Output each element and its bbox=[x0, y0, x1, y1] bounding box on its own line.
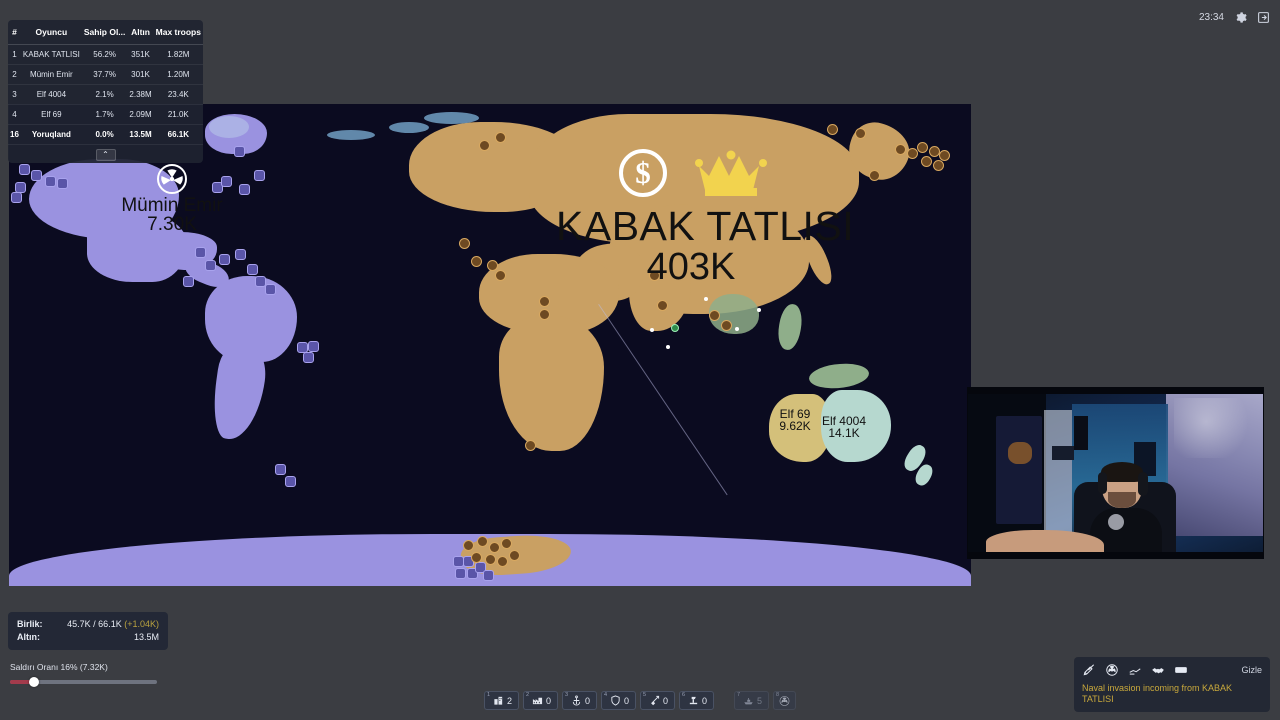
shield-icon bbox=[610, 695, 621, 706]
warship-icon bbox=[743, 695, 754, 706]
attack-ratio-slider-knob[interactable] bbox=[29, 677, 39, 687]
cell-rank: 1 bbox=[8, 45, 21, 65]
toolbar-hotkey: 7 bbox=[737, 692, 740, 698]
naval-unit-dot[interactable] bbox=[704, 297, 708, 301]
cell-owned: 0.0% bbox=[82, 125, 128, 145]
cell-troops: 66.1K bbox=[154, 125, 203, 145]
unit-marker[interactable] bbox=[471, 552, 482, 563]
unit-marker[interactable] bbox=[497, 556, 508, 567]
city-icon bbox=[493, 695, 504, 706]
unit-marker[interactable] bbox=[495, 132, 506, 143]
missile-icon bbox=[649, 695, 660, 706]
map-viewport[interactable]: KABAK TATLISI403K$Mümin Emir7.30KElf 699… bbox=[9, 104, 971, 586]
toolbar-hotkey: 1 bbox=[487, 692, 490, 698]
toolbar-hotkey: 6 bbox=[682, 692, 685, 698]
unit-marker[interactable] bbox=[235, 249, 246, 260]
cell-player: Elf 69 bbox=[21, 105, 82, 125]
unit-marker[interactable] bbox=[471, 256, 482, 267]
sword-icon[interactable] bbox=[1082, 663, 1096, 677]
unit-marker[interactable] bbox=[205, 260, 216, 271]
handshake-icon[interactable] bbox=[1151, 663, 1165, 677]
unit-marker[interactable] bbox=[477, 536, 488, 547]
game-screen: KABAK TATLISI403K$Mümin Emir7.30KElf 699… bbox=[0, 0, 1280, 720]
territory-greenland-ice bbox=[209, 116, 249, 138]
cell-gold: 301K bbox=[127, 65, 153, 85]
top-right-controls: 23:34 bbox=[1199, 11, 1270, 24]
unit-marker[interactable] bbox=[31, 170, 42, 181]
unit-marker[interactable] bbox=[183, 276, 194, 287]
cell-rank: 16 bbox=[8, 125, 21, 145]
webcam-tapestry-detail bbox=[1174, 398, 1254, 458]
gold-coin-icon: $ bbox=[619, 149, 667, 197]
lake-icon bbox=[327, 130, 375, 140]
naval-unit-dot[interactable] bbox=[757, 308, 761, 312]
unit-marker[interactable] bbox=[219, 254, 230, 265]
chat-icon[interactable] bbox=[1174, 663, 1188, 677]
webcam-overlay[interactable] bbox=[967, 387, 1264, 559]
webcam-wall-plate bbox=[1052, 446, 1074, 460]
cell-troops: 1.82M bbox=[154, 45, 203, 65]
cell-troops: 23.4K bbox=[154, 85, 203, 105]
unit-marker[interactable] bbox=[489, 542, 500, 553]
anchor-icon bbox=[571, 695, 582, 706]
cell-troops: 1.20M bbox=[154, 65, 203, 85]
unit-marker[interactable] bbox=[921, 156, 932, 167]
events-hide-button[interactable]: Gizle bbox=[1241, 665, 1262, 675]
unit-marker[interactable] bbox=[917, 142, 928, 153]
cell-gold: 13.5M bbox=[127, 125, 153, 145]
game-clock: 23:34 bbox=[1199, 12, 1224, 23]
toolbar-count: 0 bbox=[624, 696, 629, 706]
toolbar-count: 0 bbox=[546, 696, 551, 706]
toolbar-count: 0 bbox=[702, 696, 707, 706]
naval-unit-dot[interactable] bbox=[650, 328, 654, 332]
territory-australia-east bbox=[821, 390, 891, 462]
troops-label: Birlik: bbox=[17, 619, 43, 629]
unit-marker[interactable] bbox=[495, 270, 506, 281]
toolbar-hotkey: 3 bbox=[565, 692, 568, 698]
toolbar-button-missile[interactable]: 50 bbox=[640, 691, 675, 710]
cell-player: KABAK TATLISI bbox=[21, 45, 82, 65]
naval-unit-dot[interactable] bbox=[666, 345, 670, 349]
table-row[interactable]: 3Elf 40042.1%2.38M23.4K bbox=[8, 85, 203, 105]
gold-label: Altın: bbox=[17, 632, 40, 642]
cell-player: Yoruqland bbox=[21, 125, 82, 145]
column-header-rank: # bbox=[8, 20, 21, 45]
event-filter-row: Gizle bbox=[1082, 663, 1262, 677]
webcam-headphone-left bbox=[1098, 472, 1107, 494]
cell-rank: 3 bbox=[8, 85, 21, 105]
unit-marker[interactable] bbox=[933, 160, 944, 171]
webcam-poster-left bbox=[996, 416, 1042, 524]
unit-marker[interactable] bbox=[239, 184, 250, 195]
troops-value: 45.7K / 66.1K bbox=[67, 619, 122, 629]
silo-icon bbox=[688, 695, 699, 706]
webcam-necklace bbox=[1108, 514, 1124, 530]
stats-box: Birlik: 45.7K / 66.1K (+1.04K) Altın: 13… bbox=[8, 612, 168, 650]
toolbar-hotkey: 2 bbox=[526, 692, 529, 698]
webcam-bottom-edge bbox=[968, 552, 1264, 559]
toolbar-count: 0 bbox=[585, 696, 590, 706]
toolbar-count: 0 bbox=[663, 696, 668, 706]
unit-marker[interactable] bbox=[455, 568, 466, 579]
attack-ratio-control[interactable]: Saldırı Oranı 16% (7.32K) bbox=[8, 662, 168, 684]
lake-icon bbox=[389, 122, 429, 133]
nuke-icon[interactable] bbox=[1105, 663, 1119, 677]
gold-row: Altın: 13.5M bbox=[17, 632, 159, 642]
webcam-top-edge bbox=[968, 388, 1264, 394]
crown-icon bbox=[695, 148, 767, 200]
unit-marker[interactable] bbox=[895, 144, 906, 155]
unit-marker[interactable] bbox=[308, 341, 319, 352]
unit-marker[interactable] bbox=[827, 124, 838, 135]
events-panel: Gizle Naval invasion incoming from KABAK… bbox=[1074, 657, 1270, 712]
toolbar-hotkey: 5 bbox=[643, 692, 646, 698]
unit-marker[interactable] bbox=[463, 540, 474, 551]
unit-marker[interactable] bbox=[487, 260, 498, 271]
unit-marker[interactable] bbox=[525, 440, 536, 451]
cell-rank: 2 bbox=[8, 65, 21, 85]
unit-marker[interactable] bbox=[275, 464, 286, 475]
unit-marker[interactable] bbox=[709, 310, 720, 321]
cell-owned: 1.7% bbox=[82, 105, 128, 125]
exit-icon[interactable] bbox=[1257, 11, 1270, 24]
leaderboard-body: 1KABAK TATLISI56.2%351K1.82M2Mümin Emir3… bbox=[8, 45, 203, 145]
factory-icon bbox=[532, 695, 543, 706]
gold-value: 13.5M bbox=[134, 632, 159, 642]
unit-marker[interactable] bbox=[649, 270, 660, 281]
unit-marker[interactable] bbox=[459, 238, 470, 249]
cell-player: Elf 4004 bbox=[21, 85, 82, 105]
cell-rank: 4 bbox=[8, 105, 21, 125]
column-header-gold: Altın bbox=[127, 20, 153, 45]
unit-marker[interactable] bbox=[11, 192, 22, 203]
unit-marker[interactable] bbox=[539, 309, 550, 320]
toolbar-button-warship[interactable]: 75 bbox=[734, 691, 769, 710]
column-header-troops: Max troops bbox=[154, 20, 203, 45]
column-header-player: Oyuncu bbox=[21, 20, 82, 45]
nuke-icon bbox=[779, 695, 790, 706]
unit-marker[interactable] bbox=[479, 140, 490, 151]
unit-marker[interactable] bbox=[254, 170, 265, 181]
unit-marker[interactable] bbox=[539, 296, 550, 307]
table-row[interactable]: 2Mümin Emir37.7%301K1.20M bbox=[8, 65, 203, 85]
toolbar-button-factory[interactable]: 20 bbox=[523, 691, 558, 710]
unit-marker[interactable] bbox=[234, 146, 245, 157]
webcam-speaker bbox=[1074, 416, 1088, 450]
toolbar-button-shield[interactable]: 40 bbox=[601, 691, 636, 710]
table-row[interactable]: 1KABAK TATLISI56.2%351K1.82M bbox=[8, 45, 203, 65]
unit-marker[interactable] bbox=[57, 178, 68, 189]
leaderboard-header-row: # Oyuncu Sahip Ol... Altın Max troops bbox=[8, 20, 203, 45]
toolbar-button-city[interactable]: 12 bbox=[484, 691, 519, 710]
unit-marker[interactable] bbox=[721, 320, 732, 331]
player-stats-panel: Birlik: 45.7K / 66.1K (+1.04K) Altın: 13… bbox=[8, 612, 168, 684]
unit-marker[interactable] bbox=[907, 148, 918, 159]
unit-marker[interactable] bbox=[221, 176, 232, 187]
toolbar-hotkey: 8 bbox=[776, 692, 779, 698]
unit-marker[interactable] bbox=[509, 550, 520, 561]
attack-ratio-label: Saldırı Oranı 16% (7.32K) bbox=[10, 662, 168, 672]
unit-marker[interactable] bbox=[485, 554, 496, 565]
radiation-icon bbox=[157, 164, 187, 194]
cell-owned: 56.2% bbox=[82, 45, 128, 65]
event-message: Naval invasion incoming from KABAK TATLI… bbox=[1082, 683, 1262, 705]
cell-owned: 2.1% bbox=[82, 85, 128, 105]
attack-ratio-slider[interactable] bbox=[10, 680, 157, 684]
table-row[interactable]: 4Elf 691.7%2.09M21.0K bbox=[8, 105, 203, 125]
leaderboard-panel[interactable]: # Oyuncu Sahip Ol... Altın Max troops 1K… bbox=[8, 20, 203, 163]
unit-marker[interactable] bbox=[19, 164, 30, 175]
betray-icon[interactable] bbox=[1128, 663, 1142, 677]
unit-marker[interactable] bbox=[483, 570, 494, 581]
troops-row: Birlik: 45.7K / 66.1K (+1.04K) bbox=[17, 619, 159, 629]
cell-player: Mümin Emir bbox=[21, 65, 82, 85]
leaderboard-table: # Oyuncu Sahip Ol... Altın Max troops 1K… bbox=[8, 20, 203, 145]
webcam-poster-art bbox=[1008, 442, 1032, 464]
cell-troops: 21.0K bbox=[154, 105, 203, 125]
unit-marker[interactable] bbox=[657, 300, 668, 311]
troops-value-group: 45.7K / 66.1K (+1.04K) bbox=[67, 619, 159, 629]
toolbar-button-nuke[interactable]: 8 bbox=[773, 691, 796, 710]
cell-gold: 2.38M bbox=[127, 85, 153, 105]
table-row[interactable]: 16Yoruqland0.0%13.5M66.1K bbox=[8, 125, 203, 145]
unit-marker[interactable] bbox=[265, 284, 276, 295]
webcam-person-hair bbox=[1101, 462, 1143, 482]
column-header-owned: Sahip Ol... bbox=[82, 20, 128, 45]
unit-marker[interactable] bbox=[855, 128, 866, 139]
toolbar-hotkey: 4 bbox=[604, 692, 607, 698]
unit-marker[interactable] bbox=[195, 247, 206, 258]
webcam-headphone-right bbox=[1138, 472, 1148, 496]
unit-marker[interactable] bbox=[869, 170, 880, 181]
unit-marker[interactable] bbox=[285, 476, 296, 487]
cell-owned: 37.7% bbox=[82, 65, 128, 85]
cell-gold: 2.09M bbox=[127, 105, 153, 125]
toolbar-count: 5 bbox=[757, 696, 762, 706]
toolbar-count: 2 bbox=[507, 696, 512, 706]
unit-marker[interactable] bbox=[303, 352, 314, 363]
toolbar-button-anchor[interactable]: 30 bbox=[562, 691, 597, 710]
troops-gain: (+1.04K) bbox=[124, 619, 159, 629]
webcam-person-beard bbox=[1108, 492, 1136, 508]
unit-marker[interactable] bbox=[501, 538, 512, 549]
toolbar-button-silo[interactable]: 60 bbox=[679, 691, 714, 710]
unit-marker[interactable] bbox=[939, 150, 950, 161]
naval-unit-dot[interactable] bbox=[735, 327, 739, 331]
leaderboard-collapse-button[interactable]: ⌃ bbox=[96, 149, 116, 161]
lake-icon bbox=[424, 112, 479, 124]
gear-icon[interactable] bbox=[1234, 11, 1247, 24]
cell-gold: 351K bbox=[127, 45, 153, 65]
unit-marker[interactable] bbox=[45, 176, 56, 187]
naval-unit-highlight[interactable] bbox=[671, 324, 679, 332]
unit-marker[interactable] bbox=[247, 264, 258, 275]
